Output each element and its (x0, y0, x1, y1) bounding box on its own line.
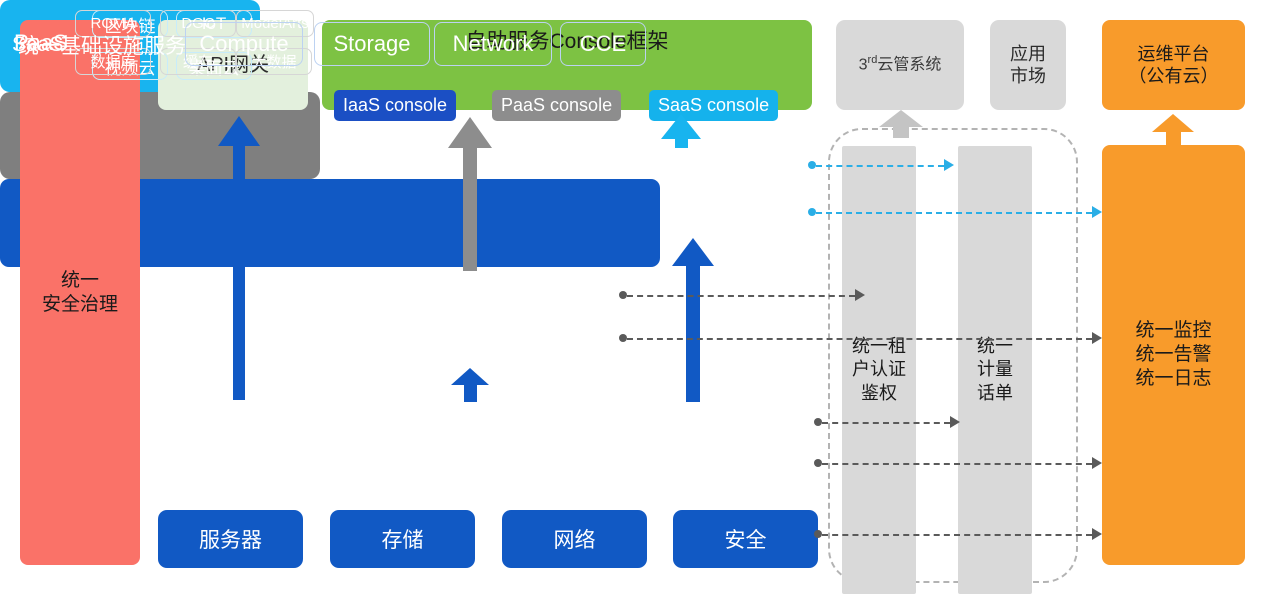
arrowhead-infra-to-monitor (1092, 457, 1102, 469)
connector-dot-paas-top (619, 291, 627, 299)
ops-platform-box: 运维平台 （公有云） (1102, 20, 1245, 110)
hardware-box-server: 服务器 (158, 510, 303, 568)
third-party-cloud-mgmt-box: 3rd云管系统 (836, 20, 964, 110)
arrow-monitor-to-ops-platform (1152, 114, 1194, 146)
dashed-line-saas-to-billing (816, 165, 944, 167)
arrowhead-saas-to-monitor (1092, 206, 1102, 218)
connector-dot-infra-bottom (814, 459, 822, 467)
connector-dot-hardware (814, 530, 822, 538)
connector-dot-paas-bottom (619, 334, 627, 342)
arrowhead-paas-to-monitor (1092, 332, 1102, 344)
dashed-line-infra-to-monitor (822, 463, 1092, 465)
console-chip-iaas[interactable]: IaaS console (334, 90, 456, 121)
infra-chip-cce[interactable]: CCE (560, 22, 646, 66)
hardware-box-security: 安全 (673, 510, 818, 568)
dashed-line-paas-to-auth (627, 295, 855, 297)
arrowhead-paas-to-auth (855, 289, 865, 301)
hardware-box-storage: 存储 (330, 510, 475, 568)
arrow-infra-to-saas (672, 238, 714, 402)
security-governance-panel: 统一 安全治理 (20, 20, 140, 565)
infra-chip-storage[interactable]: Storage (314, 22, 430, 66)
infrastructure-label: 统一基础设施服务 (18, 30, 186, 60)
dashed-line-hardware-to-monitor (822, 534, 1092, 536)
dashed-line-paas-to-monitor (627, 338, 1092, 340)
console-chip-paas[interactable]: PaaS console (492, 90, 621, 121)
unified-monitoring-panel: 统一监控 统一告警 统一日志 (1102, 145, 1245, 565)
hardware-box-network: 网络 (502, 510, 647, 568)
third-cloud-label: 3rd云管系统 (859, 54, 942, 75)
console-chip-saas[interactable]: SaaS console (649, 90, 778, 121)
arrowhead-hardware-to-monitor (1092, 528, 1102, 540)
infra-chip-network[interactable]: Network (434, 22, 552, 66)
architecture-diagram: 统一 安全治理 API网关 自助服务Console框架 IaaS console… (0, 0, 1265, 605)
arrow-infra-to-paas (451, 368, 489, 402)
infra-chip-compute[interactable]: Compute (185, 22, 303, 66)
connector-dot-saas-bottom (808, 208, 816, 216)
dashed-line-saas-to-monitor (816, 212, 1092, 214)
dashed-line-infra-to-auth (822, 422, 950, 424)
connector-dot-saas-top (808, 161, 816, 169)
arrowhead-saas-to-billing (944, 159, 954, 171)
arrowhead-infra-to-auth (950, 416, 960, 428)
app-market-box: 应用 市场 (990, 20, 1066, 110)
ordinal-superscript: rd (868, 54, 878, 66)
connector-dot-infra-top (814, 418, 822, 426)
